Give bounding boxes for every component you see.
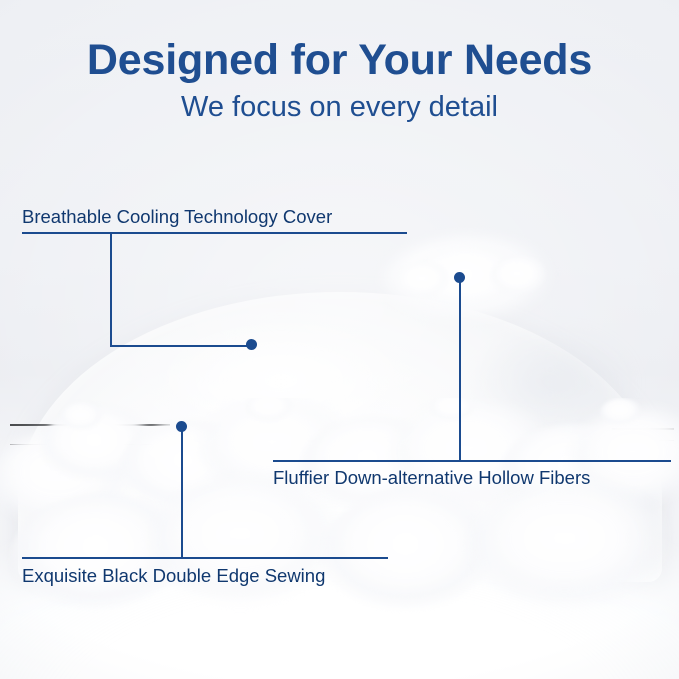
callout-leader-cover-vertical <box>110 232 112 347</box>
page-title: Designed for Your Needs <box>0 38 679 83</box>
callout-label-fibers: Fluffier Down-alternative Hollow Fibers <box>273 467 590 489</box>
callout-dot-sewing <box>176 421 187 432</box>
callout-leader-fibers <box>459 282 461 460</box>
callout-leader-cover-horizontal <box>110 345 252 347</box>
callout-leader-sewing <box>181 430 183 558</box>
callout-label-sewing: Exquisite Black Double Edge Sewing <box>22 565 325 587</box>
callout-leader-sewing-underline <box>22 557 388 559</box>
product-infographic: Designed for Your Needs We focus on ever… <box>0 0 679 679</box>
callout-leader-fibers-underline <box>273 460 671 462</box>
callout-dot-cover <box>246 339 257 350</box>
callout-leader-cover-top <box>22 232 407 234</box>
page-subtitle: We focus on every detail <box>0 92 679 124</box>
callout-label-cover: Breathable Cooling Technology Cover <box>22 206 332 228</box>
callout-dot-fibers <box>454 272 465 283</box>
